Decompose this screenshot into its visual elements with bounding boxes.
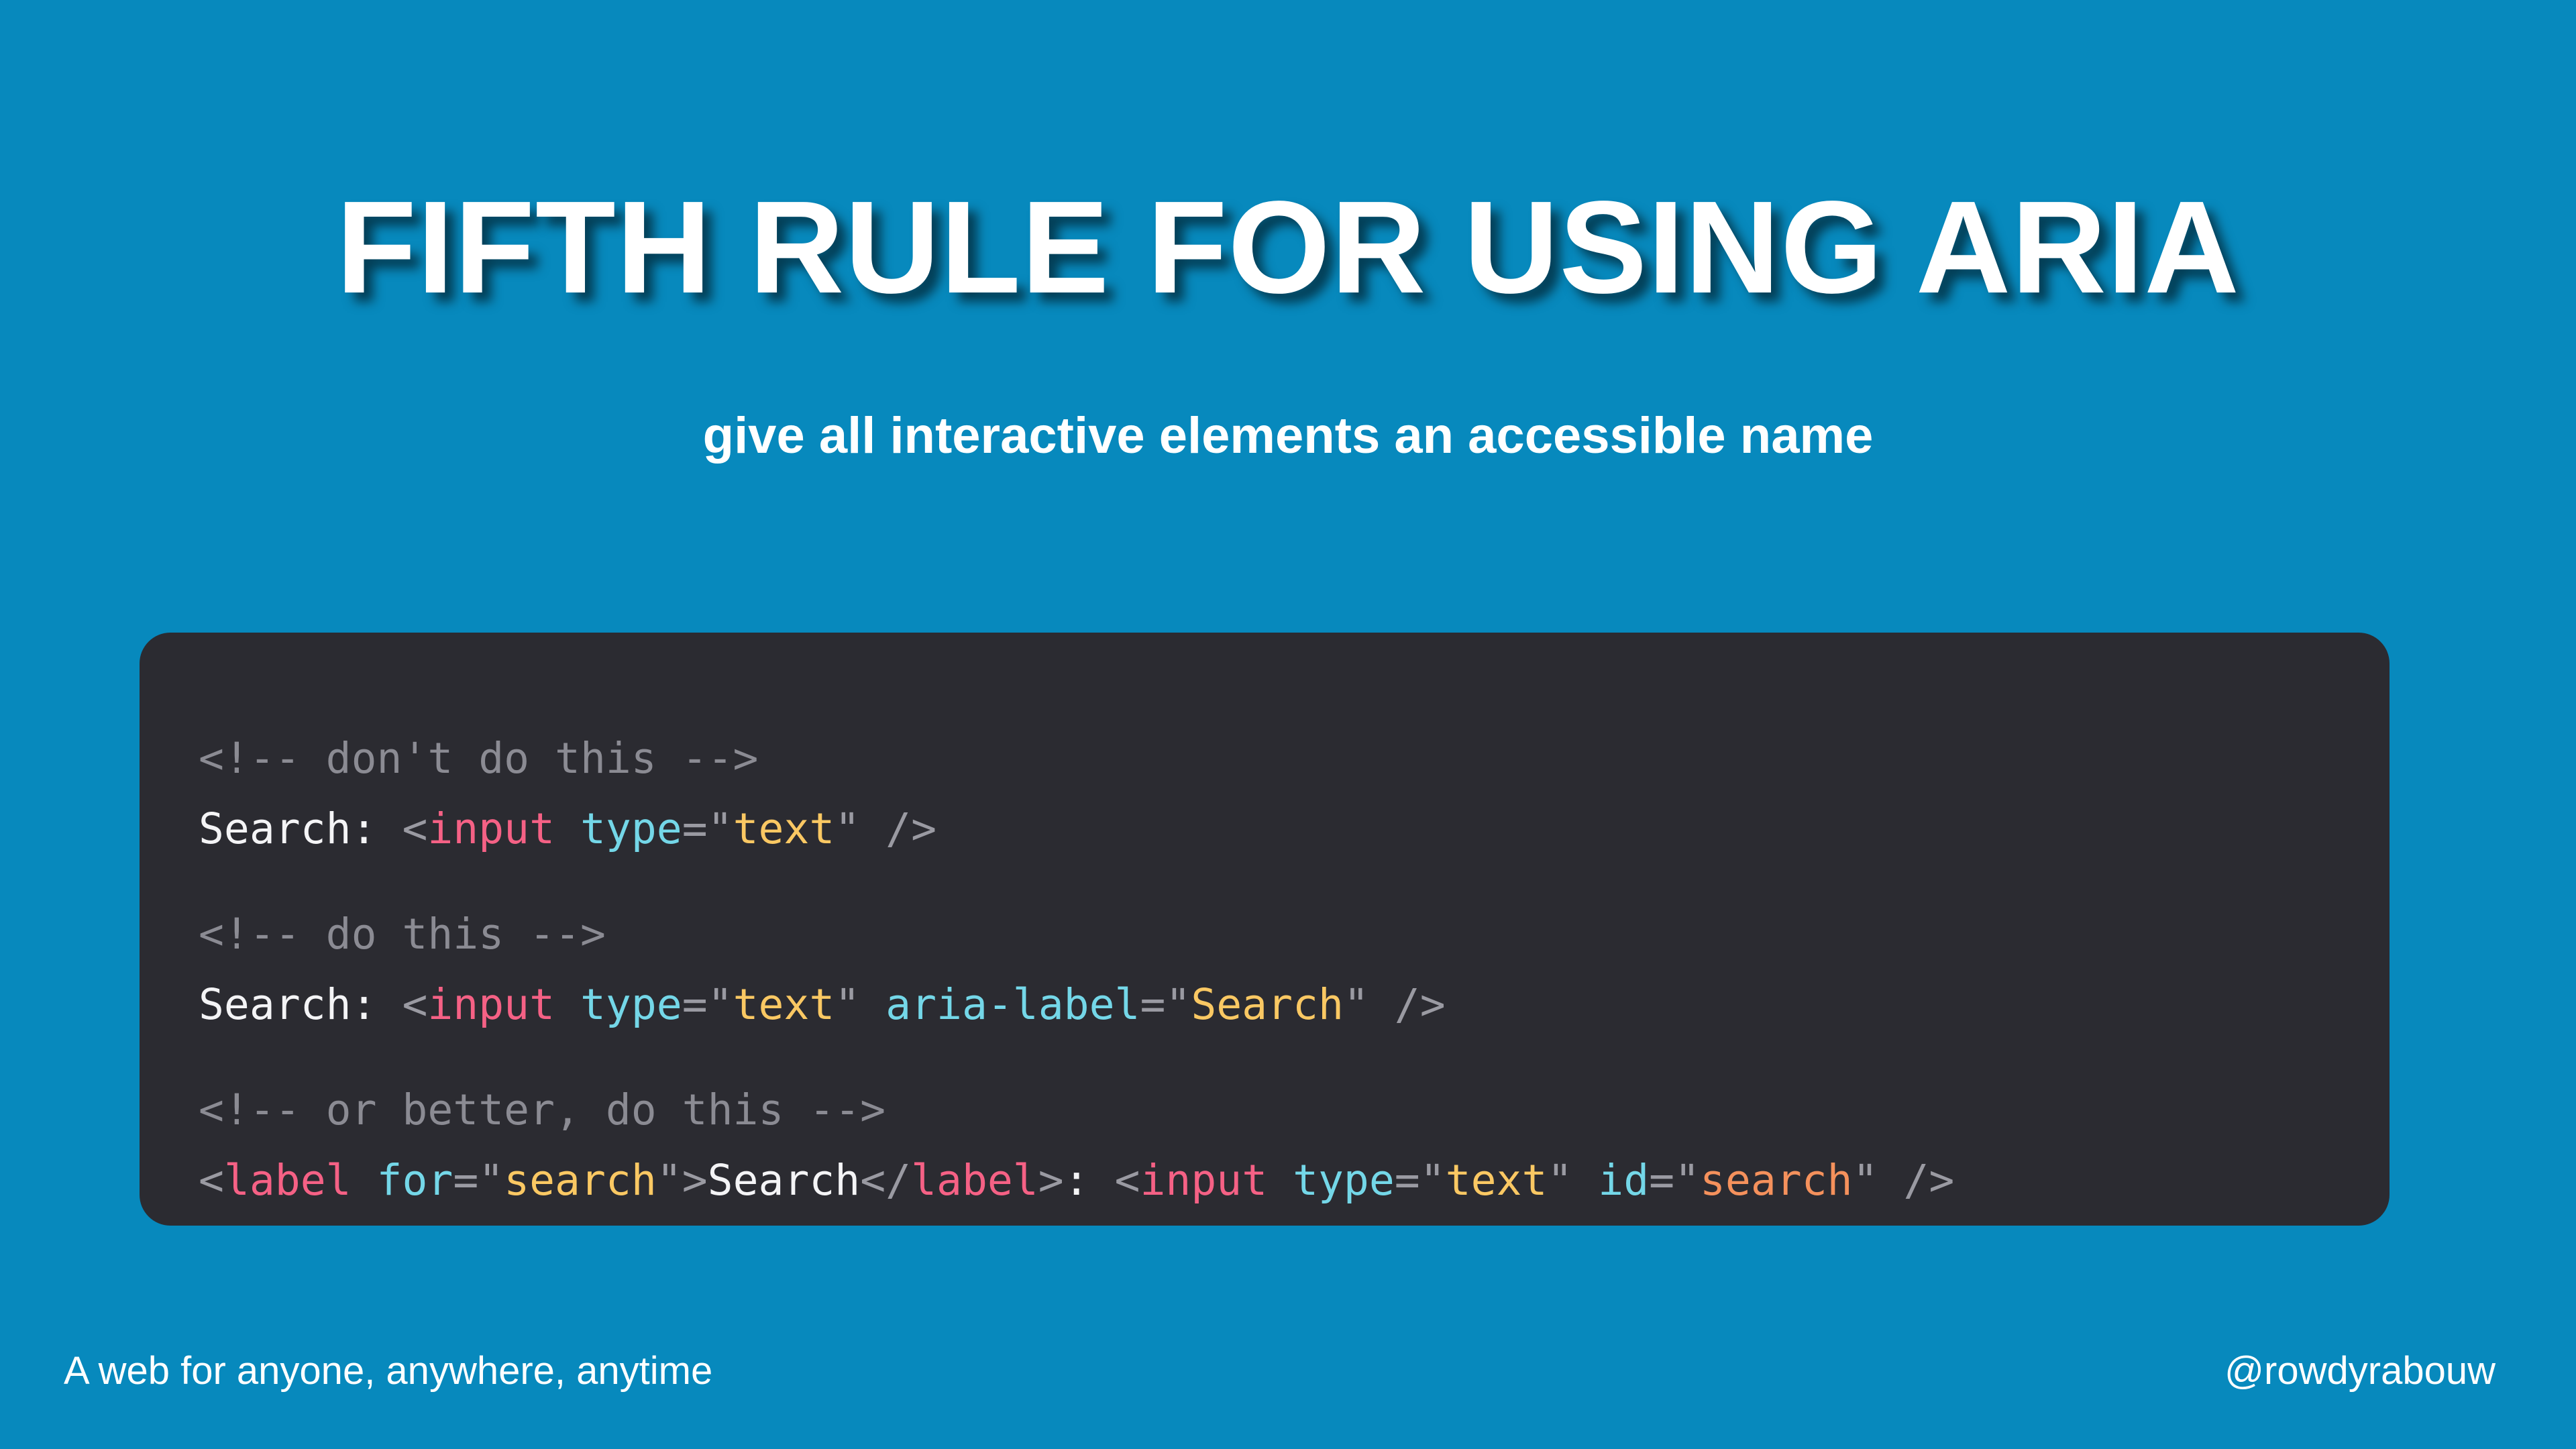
code-line-blank-2 xyxy=(199,1040,2330,1075)
code-token-text xyxy=(1267,1156,1293,1205)
code-token-tag: label xyxy=(911,1156,1038,1205)
code-token-punct: < xyxy=(402,980,427,1029)
code-token-tag: input xyxy=(427,804,555,853)
code-token-text xyxy=(860,980,885,1029)
code-token-attr: aria-label xyxy=(885,980,1140,1029)
code-line-bad-example: Search: <input type="text" /> xyxy=(199,794,2330,864)
code-panel: <!-- don't do this -->Search: <input typ… xyxy=(140,633,2390,1226)
code-token-punct: = xyxy=(1395,1156,1420,1205)
code-token-comment: <!-- do this --> xyxy=(199,910,606,959)
code-block: <!-- don't do this -->Search: <input typ… xyxy=(199,723,2330,1216)
code-token-punct: = xyxy=(453,1156,478,1205)
code-token-punct: " xyxy=(657,1156,682,1205)
code-token-attr: type xyxy=(580,980,682,1029)
code-token-punct: /> xyxy=(1395,980,1446,1029)
code-token-punct: = xyxy=(1140,980,1165,1029)
code-token-punct: /> xyxy=(1903,1156,1954,1205)
code-token-punct: " xyxy=(708,804,733,853)
code-token-punct: " xyxy=(1674,1156,1700,1205)
code-token-text xyxy=(860,804,885,853)
code-token-punct: < xyxy=(1115,1156,1140,1205)
code-token-attr: id xyxy=(1598,1156,1649,1205)
code-token-punct: = xyxy=(682,804,708,853)
code-token-punct: /> xyxy=(885,804,936,853)
code-content: <!-- don't do this -->Search: <input typ… xyxy=(199,723,2330,1216)
code-token-punct: </ xyxy=(860,1156,911,1205)
code-token-text: Search: xyxy=(199,804,402,853)
code-line-blank-1 xyxy=(199,864,2330,899)
code-line-good-example-aria-label: Search: <input type="text" aria-label="S… xyxy=(199,969,2330,1040)
code-token-attr: type xyxy=(1293,1156,1395,1205)
code-token-punct: > xyxy=(1038,1156,1064,1205)
code-token-punct: " xyxy=(835,980,860,1029)
code-token-punct: " xyxy=(478,1156,504,1205)
code-token-comment: <!-- don't do this --> xyxy=(199,734,758,783)
code-token-text xyxy=(1572,1156,1598,1205)
page-title: FIFTH RULE FOR USING ARIA xyxy=(0,180,2576,315)
slide-root: FIFTH RULE FOR USING ARIA give all inter… xyxy=(0,0,2576,1449)
footer-handle: @rowdyrabouw xyxy=(2224,1348,2495,1393)
code-line-comment-or-better: <!-- or better, do this --> xyxy=(199,1075,2330,1145)
code-token-punct: = xyxy=(1649,1156,1674,1205)
footer-tagline: A web for anyone, anywhere, anytime xyxy=(64,1348,712,1393)
code-token-punct: " xyxy=(1853,1156,1878,1205)
code-token-text xyxy=(1878,1156,1904,1205)
code-token-text xyxy=(352,1156,377,1205)
page-subtitle: give all interactive elements an accessi… xyxy=(0,408,2576,464)
code-token-string: text xyxy=(733,980,835,1029)
code-token-string: search xyxy=(504,1156,657,1205)
code-token-string: text xyxy=(1446,1156,1548,1205)
code-token-text: Search xyxy=(708,1156,861,1205)
code-token-punct: " xyxy=(835,804,860,853)
code-token-tag: input xyxy=(1140,1156,1267,1205)
code-token-punct: " xyxy=(708,980,733,1029)
code-token-punct: " xyxy=(1344,980,1369,1029)
code-token-punct: < xyxy=(402,804,427,853)
code-token-punct: " xyxy=(1547,1156,1572,1205)
code-line-best-example-label: <label for="search">Search</label>: <inp… xyxy=(199,1145,2330,1216)
code-token-punct: " xyxy=(1165,980,1191,1029)
code-token-punct: < xyxy=(199,1156,224,1205)
code-token-string-2: search xyxy=(1700,1156,1853,1205)
code-token-punct: = xyxy=(682,980,708,1029)
code-token-punct: > xyxy=(682,1156,708,1205)
code-token-text: : xyxy=(1064,1156,1115,1205)
code-token-text xyxy=(1369,980,1395,1029)
code-token-text xyxy=(555,980,580,1029)
code-token-string: Search xyxy=(1191,980,1344,1029)
code-line-comment-dont: <!-- don't do this --> xyxy=(199,723,2330,794)
code-token-attr: for xyxy=(377,1156,453,1205)
code-line-comment-do: <!-- do this --> xyxy=(199,899,2330,969)
code-token-punct: " xyxy=(1420,1156,1446,1205)
code-token-text xyxy=(555,804,580,853)
code-token-tag: input xyxy=(427,980,555,1029)
code-token-string: text xyxy=(733,804,835,853)
code-token-text: Search: xyxy=(199,980,402,1029)
code-token-tag: label xyxy=(224,1156,352,1205)
code-token-comment: <!-- or better, do this --> xyxy=(199,1085,885,1134)
code-token-attr: type xyxy=(580,804,682,853)
